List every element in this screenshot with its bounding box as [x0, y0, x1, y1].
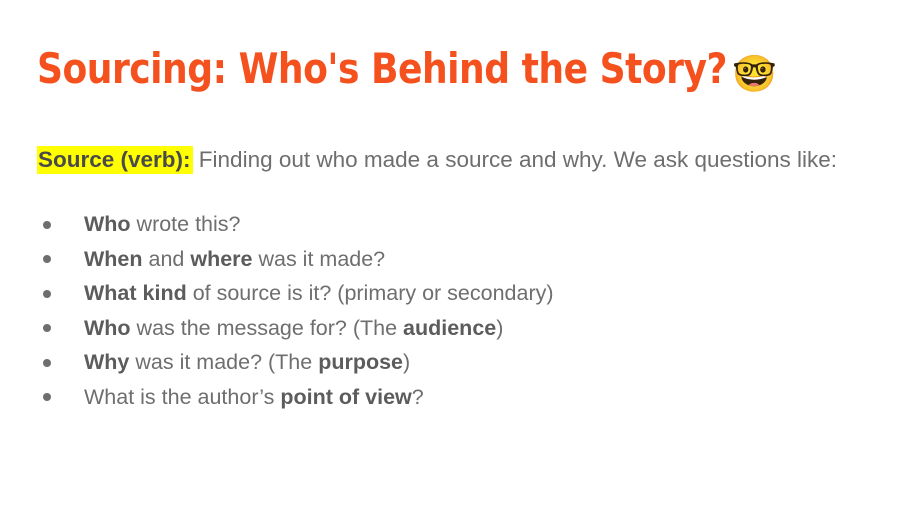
list-item: Why was it made? (The purpose) — [37, 345, 857, 380]
page-title: Sourcing: Who's Behind the Story?🤓 — [37, 44, 742, 100]
list-item-emphasis: Who — [84, 316, 131, 340]
list-item: Who was the message for? (The audience) — [37, 311, 857, 346]
bullet-dot-icon — [43, 324, 51, 332]
list-item: Who wrote this? — [37, 207, 857, 242]
question-list: Who wrote this?When and where was it mad… — [37, 207, 857, 415]
bullet-dot-icon — [43, 221, 51, 229]
list-item-emphasis: purpose — [318, 350, 403, 374]
nerd-face-emoji: 🤓 — [733, 50, 777, 100]
list-item-emphasis: where — [190, 247, 252, 271]
list-item: What kind of source is it? (primary or s… — [37, 276, 857, 311]
bullet-dot-icon — [43, 359, 51, 367]
list-item: When and where was it made? — [37, 242, 857, 277]
definition-body: Finding out who made a source and why. W… — [193, 147, 838, 172]
slide-canvas: Sourcing: Who's Behind the Story?🤓 Sourc… — [0, 0, 900, 506]
list-item-text: ) — [496, 316, 503, 340]
list-item-emphasis: audience — [403, 316, 496, 340]
list-item-text: ) — [403, 350, 410, 374]
list-item: What is the author’s point of view? — [37, 380, 857, 415]
list-item-emphasis: point of view — [280, 385, 411, 409]
list-item-emphasis: When — [84, 247, 143, 271]
list-item-text: ? — [412, 385, 424, 409]
bullet-dot-icon — [43, 393, 51, 401]
bullet-dot-icon — [43, 255, 51, 263]
list-item-text: was it made? — [253, 247, 386, 271]
definition-term: Source (verb): — [37, 146, 193, 174]
list-item-text: and — [143, 247, 191, 271]
list-item-text: of source is it? (primary or secondary) — [187, 281, 554, 305]
list-item-text: was the message for? (The — [131, 316, 403, 340]
list-item-text: was it made? (The — [129, 350, 318, 374]
definition-paragraph: Source (verb): Finding out who made a so… — [37, 143, 855, 177]
bullet-dot-icon — [43, 290, 51, 298]
list-item-text: What is the author’s — [84, 385, 280, 409]
list-item-emphasis: Why — [84, 350, 129, 374]
list-item-emphasis: What kind — [84, 281, 187, 305]
list-item-text: wrote this? — [131, 212, 241, 236]
page-title-text: Sourcing: Who's Behind the Story? — [37, 44, 727, 93]
list-item-emphasis: Who — [84, 212, 131, 236]
